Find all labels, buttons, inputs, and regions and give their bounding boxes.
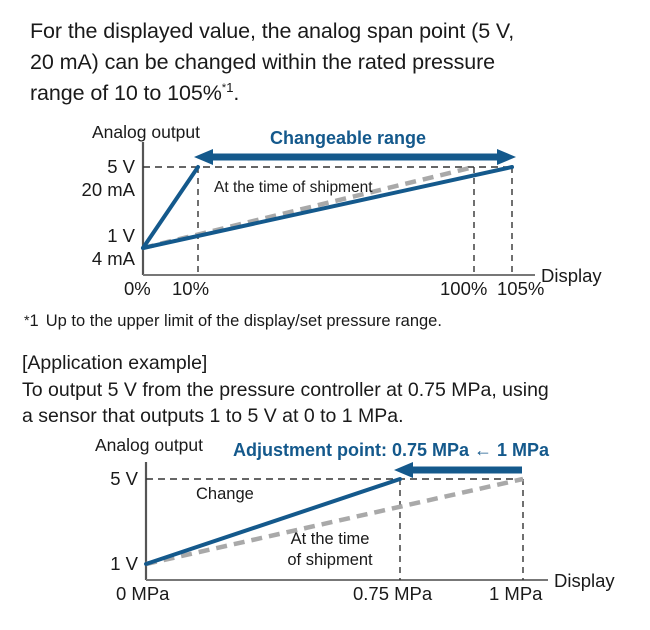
figure-1-y-tick-1v: 1 V <box>0 225 135 247</box>
figure-2-change-note: Change <box>196 485 254 504</box>
footnote-1-asterisk: * <box>24 313 30 329</box>
figure-adjustment-point: Analog output 5 V 1 V 0 MPa 0.75 MPa 1 M… <box>0 430 650 630</box>
figure-2-y-axis-title: Analog output <box>95 435 203 456</box>
figure-2-x-axis-title: Display <box>554 570 615 592</box>
figure-1-shipment-note: At the time of shipment <box>214 179 373 197</box>
figure-2-y-tick-5v: 5 V <box>0 468 138 490</box>
footnote-1-marker: *1 <box>24 310 39 333</box>
document-page: For the displayed value, the analog span… <box>0 0 650 630</box>
figure-2-shipment-note-line-1: At the time <box>270 530 390 549</box>
figure-changeable-range: Analog output 5 V 20 mA 1 V 4 mA 0% 10% … <box>0 120 650 305</box>
application-example-block: [Application example] To output 5 V from… <box>22 350 642 430</box>
figure-2-x-tick-0mpa: 0 MPa <box>116 583 169 605</box>
intro-line-3: range of 10 to 105%*1. <box>30 78 630 109</box>
figure-1-arrow-label: Changeable range <box>270 128 426 149</box>
intro-line-3-text: range of 10 to 105% <box>30 81 222 105</box>
intro-line-3-period: . <box>233 81 239 105</box>
footnote-ref-asterisk: * <box>222 82 226 94</box>
intro-line-1: For the displayed value, the analog span… <box>30 16 630 47</box>
figure-2-y-tick-1v: 1 V <box>0 553 138 575</box>
figure-1-x-tick-100: 100% <box>440 278 487 300</box>
figure-1-x-tick-10: 10% <box>172 278 209 300</box>
application-example-heading: [Application example] <box>22 350 642 377</box>
changeable-range-arrow <box>194 149 516 165</box>
figure-1-y-axis-title: Analog output <box>92 122 200 143</box>
figure-2-arrow-label: Adjustment point: 0.75 MPa ← 1 MPa <box>233 440 549 461</box>
figure-2-x-tick-1mpa: 1 MPa <box>489 583 542 605</box>
adjustment-point-arrow <box>394 462 522 478</box>
footnote-1: *1Up to the upper limit of the display/s… <box>24 310 634 333</box>
figure-1-y-tick-4ma: 4 mA <box>0 248 135 270</box>
application-example-line-1: To output 5 V from the pressure controll… <box>22 377 642 404</box>
figure-1-y-tick-20ma: 20 mA <box>0 179 135 201</box>
figure-1-x-axis-title: Display <box>541 265 602 287</box>
intro-line-2: 20 mA) can be changed within the rated p… <box>30 47 630 78</box>
application-example-line-2: a sensor that outputs 1 to 5 V at 0 to 1… <box>22 403 642 430</box>
footnote-1-number: 1 <box>30 312 39 330</box>
figure-1-y-tick-5v: 5 V <box>0 156 135 178</box>
intro-paragraph: For the displayed value, the analog span… <box>30 16 630 109</box>
footnote-1-text: Up to the upper limit of the display/set… <box>46 312 442 330</box>
figure-1-x-tick-0: 0% <box>124 278 151 300</box>
figure-1-x-tick-105: 105% <box>497 278 544 300</box>
footnote-ref: *1 <box>222 80 234 95</box>
figure-2-x-tick-075mpa: 0.75 MPa <box>353 583 432 605</box>
figure-2-shipment-note-line-2: of shipment <box>270 551 390 570</box>
